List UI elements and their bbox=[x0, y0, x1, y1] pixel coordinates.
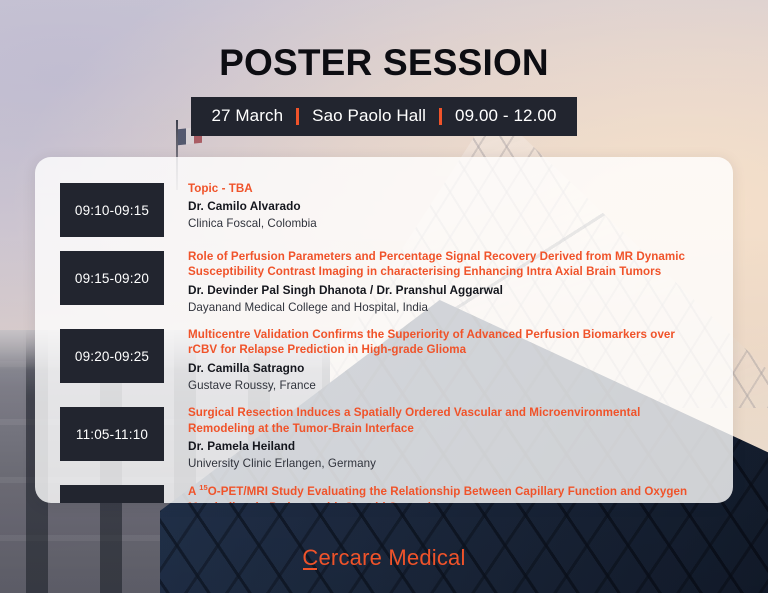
poster-session-slide: POSTER SESSION 27 March Sao Paolo Hall 0… bbox=[0, 0, 768, 593]
title-remainder: O-PET/MRI Study Evaluating the Relations… bbox=[188, 485, 687, 503]
presenter-name: Dr. Camilla Satragno bbox=[188, 361, 688, 377]
logo-underline-accent bbox=[303, 568, 317, 570]
presenter-affiliation: University Clinic Erlangen, Germany bbox=[188, 456, 688, 472]
page-title: POSTER SESSION bbox=[0, 44, 768, 81]
presentation-title: Role of Perfusion Parameters and Percent… bbox=[188, 249, 688, 280]
schedule-row[interactable]: 11:05-11:10 Surgical Resection Induces a… bbox=[35, 403, 733, 471]
presenter-name: Dr. Devinder Pal Singh Dhanota / Dr. Pra… bbox=[188, 283, 688, 299]
schedule-row[interactable]: 09:20-09:25 Multicentre Validation Confi… bbox=[35, 325, 733, 393]
schedule-row-body: Topic - TBA Dr. Camilo Alvarado Clinica … bbox=[164, 179, 317, 232]
separator-icon bbox=[439, 108, 442, 125]
isotope-superscript: 15 bbox=[199, 483, 207, 492]
title-prefix: A bbox=[188, 485, 199, 498]
schedule-row[interactable]: 11:10-11:15 A 15O-PET/MRI Study Evaluati… bbox=[35, 481, 733, 503]
presentation-title: Multicentre Validation Confirms the Supe… bbox=[188, 327, 688, 358]
time-badge: 09:15-09:20 bbox=[60, 251, 164, 305]
header: POSTER SESSION 27 March Sao Paolo Hall 0… bbox=[0, 44, 768, 136]
time-badge: 09:20-09:25 bbox=[60, 329, 164, 383]
presenter-affiliation: Dayanand Medical College and Hospital, I… bbox=[188, 300, 688, 316]
session-meta-bar: 27 March Sao Paolo Hall 09.00 - 12.00 bbox=[191, 97, 576, 136]
time-badge: 09:10-09:15 bbox=[60, 183, 164, 237]
logo-text: Cercare Medical bbox=[302, 545, 465, 570]
schedule-card: 09:10-09:15 Topic - TBA Dr. Camilo Alvar… bbox=[35, 157, 733, 503]
presenter-name: Dr. Camilo Alvarado bbox=[188, 199, 317, 215]
schedule-row-body: Multicentre Validation Confirms the Supe… bbox=[164, 325, 688, 393]
session-venue: Sao Paolo Hall bbox=[312, 106, 426, 126]
presentation-title: Topic - TBA bbox=[188, 181, 317, 196]
schedule-row-body: A 15O-PET/MRI Study Evaluating the Relat… bbox=[164, 481, 688, 503]
schedule-row[interactable]: 09:10-09:15 Topic - TBA Dr. Camilo Alvar… bbox=[35, 179, 733, 237]
footer: Cercare Medical bbox=[0, 545, 768, 571]
time-badge: 11:10-11:15 bbox=[60, 485, 164, 503]
session-time: 09.00 - 12.00 bbox=[455, 106, 557, 126]
schedule-row-body: Role of Perfusion Parameters and Percent… bbox=[164, 247, 688, 315]
presenter-affiliation: Gustave Roussy, France bbox=[188, 378, 688, 394]
schedule-row[interactable]: 09:15-09:20 Role of Perfusion Parameters… bbox=[35, 247, 733, 315]
session-date: 27 March bbox=[211, 106, 283, 126]
presentation-title: A 15O-PET/MRI Study Evaluating the Relat… bbox=[188, 483, 688, 503]
presenter-affiliation: Clinica Foscal, Colombia bbox=[188, 216, 317, 232]
presentation-title: Surgical Resection Induces a Spatially O… bbox=[188, 405, 688, 436]
schedule-row-body: Surgical Resection Induces a Spatially O… bbox=[164, 403, 688, 471]
separator-icon bbox=[296, 108, 299, 125]
cercare-medical-logo: Cercare Medical bbox=[302, 545, 465, 571]
presenter-name: Dr. Pamela Heiland bbox=[188, 439, 688, 455]
time-badge: 11:05-11:10 bbox=[60, 407, 164, 461]
